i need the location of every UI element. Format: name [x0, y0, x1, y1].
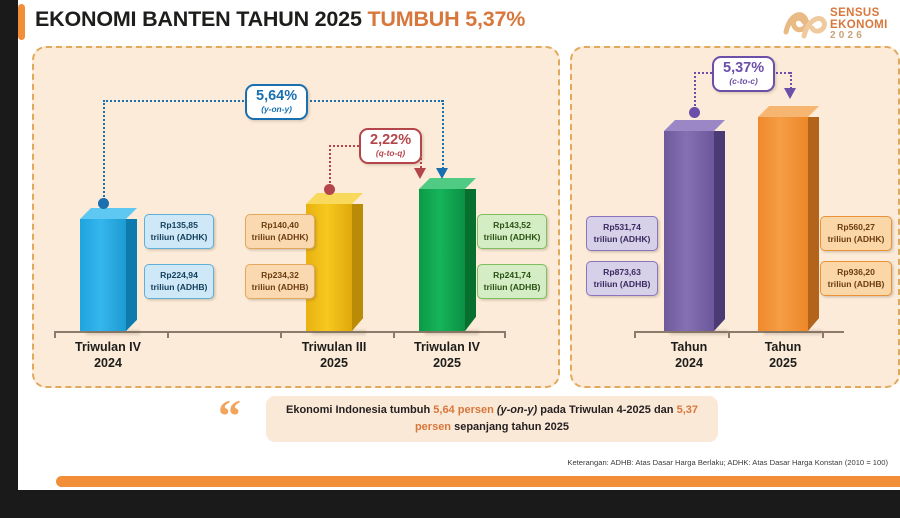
cat-line-2: 2025: [387, 356, 507, 372]
badge-yoy-sub: (y-on-y): [256, 104, 297, 114]
badge-qtq: 2,22% (q-to-q): [359, 128, 422, 164]
connector-qtq-left-horizontal: [329, 145, 363, 147]
valuebox-unit: triliun (ADHB): [482, 282, 542, 294]
valuebox-adhk-triwulan-iv-2024: Rp135,85 triliun (ADHK): [144, 214, 214, 249]
axis-tick: [280, 331, 282, 338]
footer-accent-bar: [56, 476, 900, 487]
quote-box: Ekonomi Indonesia tumbuh 5,64 persen (y-…: [266, 396, 718, 442]
valuebox-adhb-tahun-2024: Rp873,63 triliun (ADHB): [586, 261, 658, 296]
header-accent-bar: [18, 4, 25, 40]
valuebox-amount: Rp873,63: [591, 267, 653, 279]
valuebox-unit: triliun (ADHK): [825, 234, 887, 246]
arrow-qtq: [414, 168, 426, 179]
bar-triwulan-iv-2025[interactable]: [419, 178, 465, 331]
axis-tick: [504, 331, 506, 338]
valuebox-amount: Rp241,74: [482, 270, 542, 282]
footnote-text: Keterangan: ADHB: Atas Dasar Harga Berla…: [567, 458, 888, 467]
cat-line-1: Triwulan III: [274, 340, 394, 356]
logo-line-3: 2026: [830, 31, 888, 42]
annual-chart-panel: Tahun 2024 Tahun 2025 Rp531,74 triliun (…: [570, 46, 900, 388]
swirl-icon: [782, 6, 828, 42]
valuebox-unit: triliun (ADHK): [591, 234, 653, 246]
quarterly-chart-panel: Triwulan IV 2024 Triwulan III 2025 Triwu…: [32, 46, 560, 388]
quote-banner: “ Ekonomi Indonesia tumbuh 5,64 persen (…: [218, 396, 718, 446]
connector-ctc-left-vertical: [694, 72, 696, 110]
quote-mark-icon: “: [218, 398, 241, 435]
badge-qtq-percent: 2,22%: [370, 133, 411, 148]
cat-label-triwulan-iii-2025: Triwulan III 2025: [274, 340, 394, 371]
sensus-ekonomi-logo: SENSUS EKONOMI 2026: [782, 4, 890, 44]
valuebox-adhb-tahun-2025: Rp936,20 triliun (ADHB): [820, 261, 892, 296]
cat-line-1: Triwulan IV: [387, 340, 507, 356]
page-card: EKONOMI BANTEN TAHUN 2025 TUMBUH 5,37% S…: [18, 0, 900, 490]
logo-line-1: SENSUS: [830, 7, 888, 19]
annual-plot-area: Tahun 2024 Tahun 2025 Rp531,74 triliun (…: [572, 48, 898, 386]
badge-ctc-percent: 5,37%: [723, 61, 764, 76]
badge-yoy-percent: 5,64%: [256, 89, 297, 104]
valuebox-amount: Rp224,94: [149, 270, 209, 282]
page-title: EKONOMI BANTEN TAHUN 2025 TUMBUH 5,37%: [35, 7, 525, 32]
connector-yoy-left-vertical: [103, 100, 105, 200]
valuebox-amount: Rp143,52: [482, 220, 542, 232]
valuebox-adhk-tahun-2024: Rp531,74 triliun (ADHK): [586, 216, 658, 251]
bar-triwulan-iv-2024[interactable]: [80, 208, 126, 331]
infographic-canvas: EKONOMI BANTEN TAHUN 2025 TUMBUH 5,37% S…: [0, 0, 900, 518]
valuebox-unit: triliun (ADHK): [482, 232, 542, 244]
valuebox-unit: triliun (ADHB): [149, 282, 209, 294]
quote-highlight-1: 5,64 persen: [433, 404, 497, 416]
quote-text: Ekonomi Indonesia tumbuh 5,64 persen (y-…: [276, 402, 708, 436]
valuebox-amount: Rp140,40: [250, 220, 310, 232]
cat-label-tahun-2025: Tahun 2025: [723, 340, 843, 371]
valuebox-adhb-triwulan-iv-2025: Rp241,74 triliun (ADHB): [477, 264, 547, 299]
cat-label-triwulan-iv-2025: Triwulan IV 2025: [387, 340, 507, 371]
cat-line-1: Triwulan IV: [48, 340, 168, 356]
bar-triwulan-iii-2025[interactable]: [306, 193, 352, 331]
quarterly-plot-area: Triwulan IV 2024 Triwulan III 2025 Triwu…: [34, 48, 558, 386]
bar-tahun-2025[interactable]: [758, 106, 808, 331]
axis-tick: [822, 331, 824, 338]
cat-label-triwulan-iv-2024: Triwulan IV 2024: [48, 340, 168, 371]
valuebox-unit: triliun (ADHK): [250, 232, 310, 244]
valuebox-amount: Rp936,20: [825, 267, 887, 279]
bar-tahun-2024[interactable]: [664, 120, 714, 331]
badge-ctc: 5,37% (c-to-c): [712, 56, 775, 92]
arrow-yoy: [436, 168, 448, 179]
valuebox-adhb-triwulan-iv-2024: Rp224,94 triliun (ADHB): [144, 264, 214, 299]
cat-line-2: 2025: [723, 356, 843, 372]
valuebox-amount: Rp560,27: [825, 222, 887, 234]
axis-tick: [393, 331, 395, 338]
badge-ctc-sub: (c-to-c): [723, 76, 764, 86]
valuebox-unit: triliun (ADHK): [149, 232, 209, 244]
valuebox-unit: triliun (ADHB): [591, 279, 653, 291]
cat-line-1: Tahun: [723, 340, 843, 356]
badge-yoy: 5,64% (y-on-y): [245, 84, 308, 120]
page-title-main: EKONOMI BANTEN TAHUN 2025: [35, 7, 367, 31]
axis-tick: [728, 331, 730, 338]
quote-italic-1: (y-on-y): [497, 404, 537, 416]
valuebox-unit: triliun (ADHB): [825, 279, 887, 291]
valuebox-amount: Rp531,74: [591, 222, 653, 234]
valuebox-adhk-triwulan-iii-2025: Rp140,40 triliun (ADHK): [245, 214, 315, 249]
quote-part-3: sepanjang tahun 2025: [454, 421, 569, 433]
valuebox-adhb-triwulan-iii-2025: Rp234,32 triliun (ADHB): [245, 264, 315, 299]
quote-part-2: pada Triwulan 4-2025 dan: [537, 404, 676, 416]
arrow-ctc: [784, 88, 796, 99]
valuebox-adhk-triwulan-iv-2025: Rp143,52 triliun (ADHK): [477, 214, 547, 249]
axis-tick: [167, 331, 169, 338]
axis-tick: [54, 331, 56, 338]
valuebox-adhk-tahun-2025: Rp560,27 triliun (ADHK): [820, 216, 892, 251]
page-title-highlight: TUMBUH 5,37%: [367, 7, 525, 31]
valuebox-unit: triliun (ADHB): [250, 282, 310, 294]
axis-tick: [634, 331, 636, 338]
badge-qtq-sub: (q-to-q): [370, 148, 411, 158]
quote-part-1: Ekonomi Indonesia tumbuh: [286, 404, 433, 416]
cat-line-2: 2024: [48, 356, 168, 372]
valuebox-amount: Rp234,32: [250, 270, 310, 282]
logo-text: SENSUS EKONOMI 2026: [830, 7, 888, 42]
valuebox-amount: Rp135,85: [149, 220, 209, 232]
connector-qtq-left-vertical: [329, 145, 331, 187]
cat-line-2: 2025: [274, 356, 394, 372]
connector-yoy-right-vertical: [442, 100, 444, 172]
